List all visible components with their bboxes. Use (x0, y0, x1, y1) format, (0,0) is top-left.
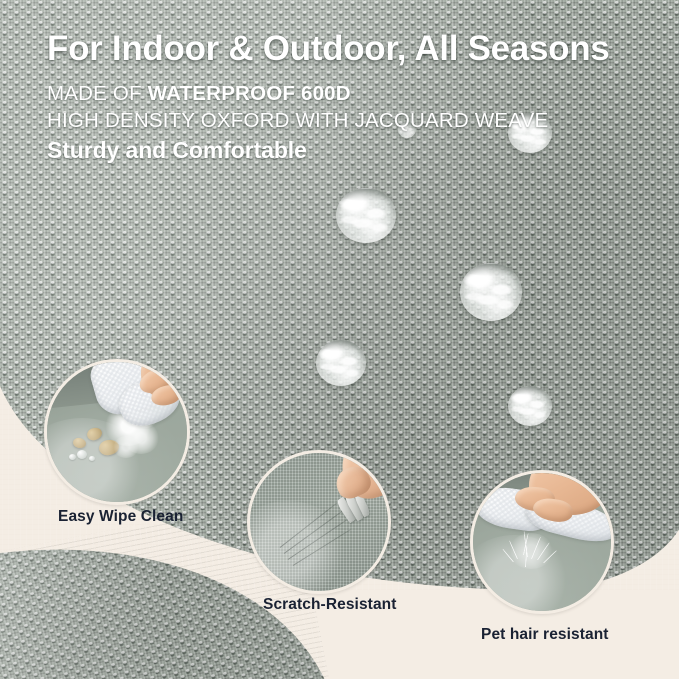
scratch-resistant-photo (247, 450, 391, 594)
pet-hair-resistant-caption: Pet hair resistant (481, 626, 609, 644)
scratch-resistant-caption: Scratch-Resistant (263, 596, 397, 614)
water-droplet (508, 386, 552, 426)
subtitle-line-3: Sturdy and Comfortable (47, 137, 647, 164)
infographic-canvas: For Indoor & Outdoor, All Seasons MADE O… (0, 0, 679, 679)
pet-hair-resistant-photo (470, 470, 614, 614)
subtitle-waterproof-600d: WATERPROOF 600D (148, 82, 351, 105)
easy-wipe-clean-photo (44, 359, 190, 505)
easy-wipe-clean-caption: Easy Wipe Clean (58, 508, 183, 526)
headline-block: For Indoor & Outdoor, All Seasons MADE O… (47, 30, 647, 164)
water-droplet (316, 340, 366, 386)
subtitle-line-1: MADE OF WATERPROOF 600D (47, 82, 647, 106)
subtitle-line-2: HIGH DENSITY OXFORD WITH JACQUARD WEAVE (47, 109, 647, 133)
page-title: For Indoor & Outdoor, All Seasons (47, 30, 647, 69)
water-droplet (336, 188, 396, 243)
water-droplet (460, 263, 522, 321)
subtitle-made-of: MADE OF (47, 82, 148, 105)
